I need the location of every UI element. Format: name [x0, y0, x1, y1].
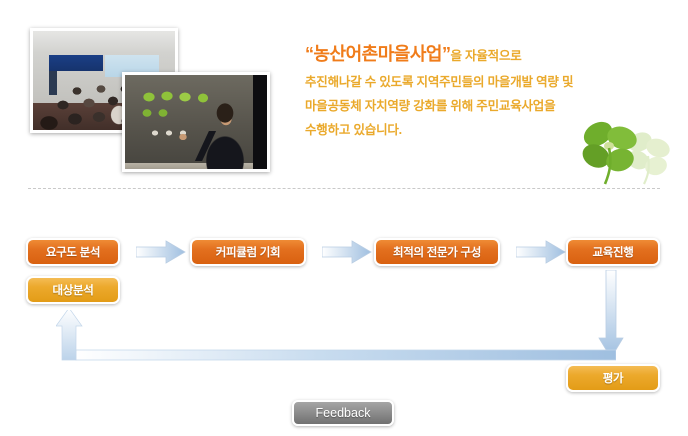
- flow-box-requirement-analysis[interactable]: 요구도 분석: [26, 238, 120, 266]
- headline-quoted-title: “농산어촌마을사업”: [305, 44, 450, 64]
- feedback-label: Feedback: [316, 406, 371, 420]
- flow-arrow-feedback-return: [56, 310, 616, 370]
- flow-box-label: 요구도 분석: [46, 244, 100, 260]
- headline-line1-tail: 을 자율적으로: [450, 49, 521, 63]
- flow-box-label: 커피큘럼 기회: [216, 244, 281, 260]
- four-leaf-clover-icon: [578, 118, 683, 190]
- feedback-button[interactable]: Feedback: [292, 400, 394, 426]
- flow-box-label: 대상분석: [52, 282, 93, 298]
- flow-box-expert-composition[interactable]: 최적의 전문가 구성: [374, 238, 500, 266]
- flow-box-target-analysis[interactable]: 대상분석: [26, 276, 120, 304]
- headline-line4: 수행하고 있습니다.: [305, 118, 605, 142]
- flow-arrow-right-1: [136, 240, 186, 264]
- flow-box-label: 최적의 전문가 구성: [393, 244, 481, 260]
- section-divider: [28, 188, 660, 189]
- headline-block: “농산어촌마을사업”을 자율적으로 추진해나갈 수 있도록 지역주민들의 마을개…: [305, 40, 605, 142]
- headline-line2: 추진해나갈 수 있도록 지역주민들의 마을개발 역량 및: [305, 70, 605, 94]
- flow-arrow-right-2: [322, 240, 372, 264]
- headline-line3: 마을공동체 자치역량 강화를 위해 주민교육사업을: [305, 94, 605, 118]
- flow-box-label: 평가: [603, 370, 624, 386]
- speaker-photo: [122, 72, 270, 172]
- flow-box-curriculum-planning[interactable]: 커피큘럼 기회: [190, 238, 306, 266]
- flow-box-label: 교육진행: [592, 244, 633, 260]
- flow-box-education-progress[interactable]: 교육진행: [566, 238, 660, 266]
- flow-box-evaluation[interactable]: 평가: [566, 364, 660, 392]
- flow-arrow-right-3: [516, 240, 566, 264]
- page-root: “농산어촌마을사업”을 자율적으로 추진해나갈 수 있도록 지역주민들의 마을개…: [0, 0, 688, 436]
